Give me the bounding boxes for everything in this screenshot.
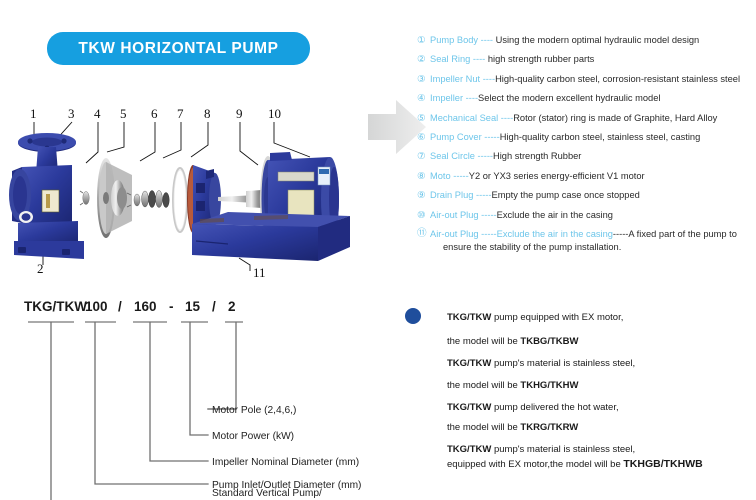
- callout-11: 11: [253, 265, 266, 280]
- legend-description: High strength Rubber: [493, 151, 581, 161]
- legend-number: ②: [417, 50, 430, 69]
- note-line: TKG/TKW pump equipped with EX motor,: [447, 312, 623, 323]
- motor-shaft-graphic: [218, 190, 265, 208]
- mechanical-seal-graphic: [127, 191, 169, 208]
- legend-dash: -----: [479, 210, 497, 220]
- legend-description: Exclude the air in the casing: [497, 210, 613, 220]
- legend-number: ⑥: [417, 128, 430, 147]
- callout-7: 7: [177, 106, 184, 121]
- legend-number: ⑧: [417, 167, 430, 186]
- legend-dash: -----: [451, 171, 469, 181]
- legend-item: ⑧ Moto -----Y2 or YX3 series energy-effi…: [417, 167, 756, 186]
- legend-number: ⑦: [417, 147, 430, 166]
- legend-part-name: Pump Body: [430, 35, 478, 45]
- legend-item: ② Seal Ring ---- high strength rubber pa…: [417, 50, 756, 69]
- bullet-circle-icon: [405, 308, 421, 324]
- model-code-sep1: /: [118, 299, 122, 314]
- legend-item: ⑤ Mechanical Seal ----Rotor (stator) rin…: [417, 109, 756, 128]
- pump-body-graphic: [9, 133, 84, 259]
- legend-dash: -----: [475, 151, 493, 161]
- legend-number: ⑪: [417, 228, 430, 241]
- note-text: pump's material is stainless steel,: [491, 444, 635, 455]
- model-designation-diagram: TKG/TKW 100 / 160 - 15 / 2 Motor Pole (2…: [0, 296, 400, 500]
- legend-dash: -----: [482, 132, 500, 142]
- legend-dash: -----: [473, 190, 491, 200]
- legend-item: ⑩ Air-out Plug -----Exclude the air in t…: [417, 206, 756, 225]
- model-desc-standard-line1: Standard Vertical Pump/: [212, 488, 322, 499]
- legend-part-name: Mechanical Seal: [430, 113, 498, 123]
- callout-9: 9: [236, 106, 243, 121]
- page-title: TKW HORIZONTAL PUMP: [78, 40, 278, 58]
- legend-number: ③: [417, 70, 430, 89]
- note-line: TKG/TKW pump's material is stainless ste…: [447, 358, 635, 369]
- legend-item: ⑨ Drain Plug -----Empty the pump case on…: [417, 186, 756, 205]
- note-text: pump delivered the hot water,: [491, 402, 618, 413]
- note-line: the model will be TKBG/TKBW: [447, 336, 578, 347]
- note-text: pump's material is stainless steel,: [491, 358, 635, 369]
- legend-number: ⑩: [417, 206, 430, 225]
- legend-dash: -----: [613, 229, 628, 239]
- parts-legend: ① Pump Body ---- Using the modern optima…: [417, 31, 756, 253]
- note-model: TKHG/TKHW: [520, 380, 578, 391]
- model-variant-notes: TKG/TKW pump equipped with EX motor, the…: [400, 300, 756, 490]
- legend-dash: ----: [498, 113, 513, 123]
- callout-8: 8: [204, 106, 211, 121]
- model-desc-motor-power: Motor Power (kW): [212, 431, 294, 442]
- legend-item: ③ Impeller Nut ----High-quality carbon s…: [417, 70, 756, 89]
- note-line: equipped with EX motor,the model will be…: [447, 458, 703, 470]
- model-code-impeller: 160: [134, 299, 157, 314]
- seal-circle-graphic: [173, 168, 187, 232]
- callout-6: 6: [151, 106, 158, 121]
- legend-item: ④ Impeller ----Select the modern excelle…: [417, 89, 756, 108]
- note-text: pump equipped with EX motor,: [491, 312, 623, 323]
- note-text: equipped with EX motor,the model will be: [447, 459, 623, 470]
- legend-number: ⑤: [417, 109, 430, 128]
- note-model: TKHGB/TKHWB: [623, 458, 702, 470]
- model-code-inlet: 100: [85, 299, 108, 314]
- model-code-sep2: /: [212, 299, 216, 314]
- legend-description: Rotor (stator) ring is made of Graphite,…: [513, 113, 717, 123]
- legend-description: high strength rubber parts: [488, 54, 594, 64]
- legend-dash: ----: [470, 54, 488, 64]
- exploded-pump-diagram: 1 3 4 5 6 7 8 9 10 2 11: [0, 95, 380, 290]
- legend-part-name: Drain Plug: [430, 190, 473, 200]
- note-model: TKBG/TKBW: [520, 336, 578, 347]
- legend-part-name: Impeller Nut: [430, 74, 480, 84]
- legend-description: Using the modern optimal hydraulic model…: [496, 35, 700, 45]
- legend-description: A fixed part of the pump to: [628, 229, 737, 239]
- legend-item: ① Pump Body ---- Using the modern optima…: [417, 31, 756, 50]
- impeller-graphic: [97, 158, 132, 238]
- model-desc-motor-pole: Motor Pole (2,4,6,): [212, 405, 296, 416]
- note-line: TKG/TKW pump's material is stainless ste…: [447, 444, 635, 455]
- impeller-nut-graphic: [80, 191, 89, 205]
- legend-part-name: Seal Circle: [430, 151, 475, 161]
- legend-description: Empty the pump case once stopped: [492, 190, 640, 200]
- model-code-dash: -: [169, 299, 174, 314]
- note-text: the model will be: [447, 336, 520, 347]
- legend-description: High-quality carbon steel, stainless ste…: [500, 132, 701, 142]
- legend-part-name: Air-out Plug: [430, 210, 479, 220]
- legend-item: ⑦ Seal Circle -----High strength Rubber: [417, 147, 756, 166]
- callout-1: 1: [30, 106, 37, 121]
- page-title-banner: TKW HORIZONTAL PUMP: [47, 32, 310, 65]
- callout-3: 3: [68, 106, 75, 121]
- base-plate-graphic: [192, 212, 350, 261]
- note-line: the model will be TKHG/TKHW: [447, 380, 578, 391]
- note-text: the model will be: [447, 422, 520, 433]
- legend-dash: ----: [480, 74, 495, 84]
- legend-description: High-quality carbon steel, corrosion-res…: [495, 74, 740, 84]
- model-desc-impeller-dia: Impeller Nominal Diameter (mm): [212, 457, 359, 468]
- legend-item: ⑥ Pump Cover -----High-quality carbon st…: [417, 128, 756, 147]
- note-text: the model will be: [447, 380, 520, 391]
- legend-description: Select the modern excellent hydraulic mo…: [478, 93, 660, 103]
- legend-number: ⑨: [417, 186, 430, 205]
- model-code-series: TKG/TKW: [24, 299, 87, 314]
- model-code-pole: 2: [228, 299, 236, 314]
- legend-part-name: Pump Cover: [430, 132, 482, 142]
- legend-part-name: Impeller: [430, 93, 463, 103]
- note-model: TKRG/TKRW: [520, 422, 578, 433]
- callout-2: 2: [37, 261, 44, 276]
- legend-dash: ----: [478, 35, 496, 45]
- legend-part-name: Moto: [430, 171, 451, 181]
- callout-4: 4: [94, 106, 101, 121]
- note-prefix: TKG/TKW: [447, 444, 491, 455]
- note-prefix: TKG/TKW: [447, 358, 491, 369]
- note-line: TKG/TKW pump delivered the hot water,: [447, 402, 619, 413]
- legend-number: ①: [417, 31, 430, 50]
- legend-number: ④: [417, 89, 430, 108]
- callout-5: 5: [120, 106, 127, 121]
- legend-part-name: Air-out Plug -----Exclude the air in the…: [430, 229, 613, 239]
- note-prefix: TKG/TKW: [447, 312, 491, 323]
- legend-description: Y2 or YX3 series energy-efficient V1 mot…: [469, 171, 645, 181]
- legend-part-name: Seal Ring: [430, 54, 470, 64]
- legend-description-line2: ensure the stability of the pump install…: [430, 241, 737, 254]
- model-code-power: 15: [185, 299, 201, 314]
- legend-dash: ----: [463, 93, 478, 103]
- note-line: the model will be TKRG/TKRW: [447, 422, 578, 433]
- callout-10: 10: [268, 106, 281, 121]
- note-prefix: TKG/TKW: [447, 402, 491, 413]
- legend-item: ⑪ Air-out Plug -----Exclude the air in t…: [417, 225, 756, 253]
